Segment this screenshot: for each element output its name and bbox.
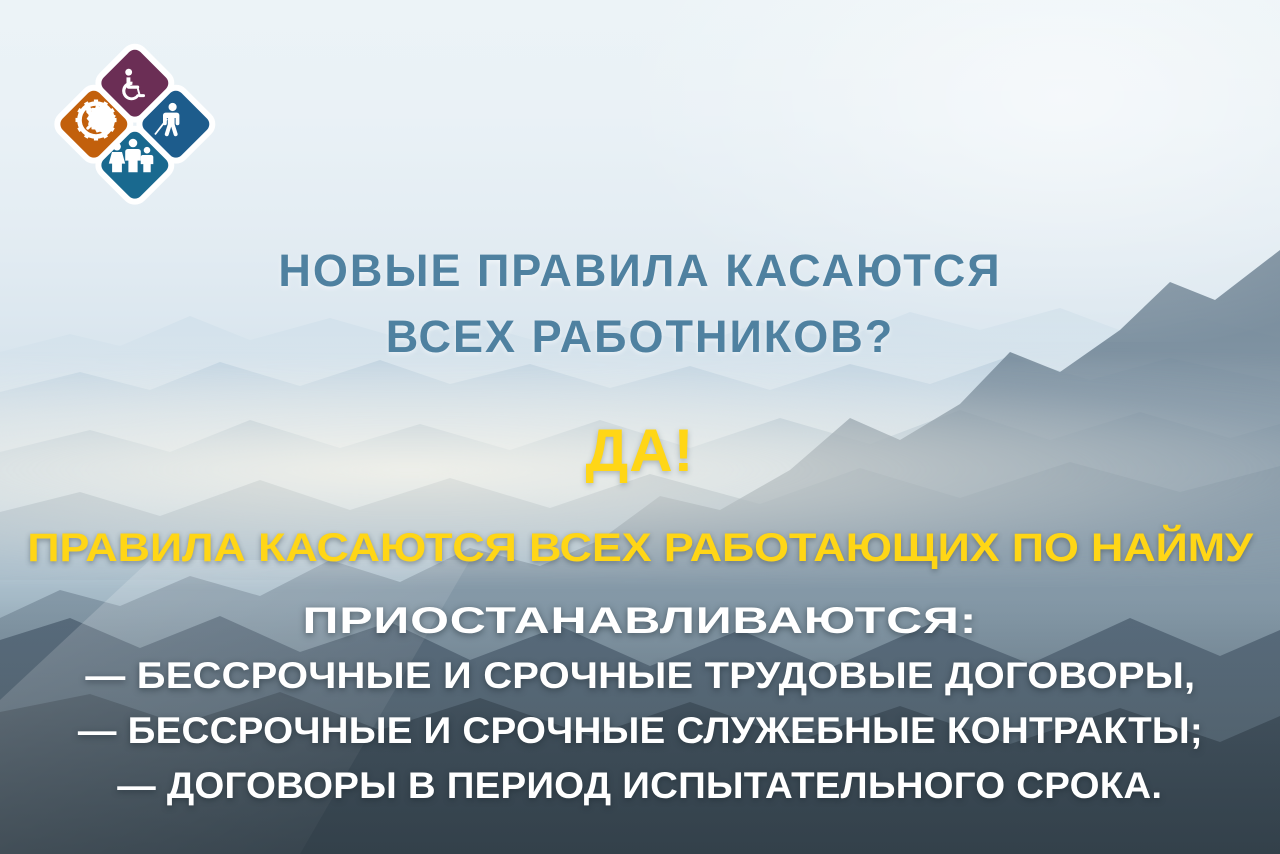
- headline-line-2: ВСЕХ РАБОТНИКОВ?: [0, 304, 1280, 370]
- banner-text: ПРАВИЛА КАСАЮТСЯ ВСЕХ РАБОТАЮЩИХ ПО НАЙМ…: [27, 528, 1252, 568]
- list-item: — БЕССРОЧНЫЕ И СРОЧНЫЕ ТРУДОВЫЕ ДОГОВОРЫ…: [85, 648, 1195, 703]
- list-item: — ДОГОВОРЫ В ПЕРИОД ИСПЫТАТЕЛЬНОГО СРОКА…: [118, 758, 1163, 813]
- list-intro: ПРИОСТАНАВЛИВАЮТСЯ:: [303, 593, 978, 648]
- poster-content: НОВЫЕ ПРАВИЛА КАСАЮТСЯ ВСЕХ РАБОТНИКОВ? …: [0, 0, 1280, 854]
- answer-text: ДА!: [0, 421, 1280, 481]
- list-item: — БЕССРОЧНЫЕ И СРОЧНЫЕ СЛУЖЕБНЫЕ КОНТРАК…: [78, 703, 1203, 758]
- headline-line-1: НОВЫЕ ПРАВИЛА КАСАЮТСЯ: [0, 238, 1280, 304]
- suspension-list: ПРИОСТАНАВЛИВАЮТСЯ: — БЕССРОЧНЫЕ И СРОЧН…: [0, 593, 1280, 813]
- headline: НОВЫЕ ПРАВИЛА КАСАЮТСЯ ВСЕХ РАБОТНИКОВ?: [0, 238, 1280, 369]
- poster-canvas: НОВЫЕ ПРАВИЛА КАСАЮТСЯ ВСЕХ РАБОТНИКОВ? …: [0, 0, 1280, 854]
